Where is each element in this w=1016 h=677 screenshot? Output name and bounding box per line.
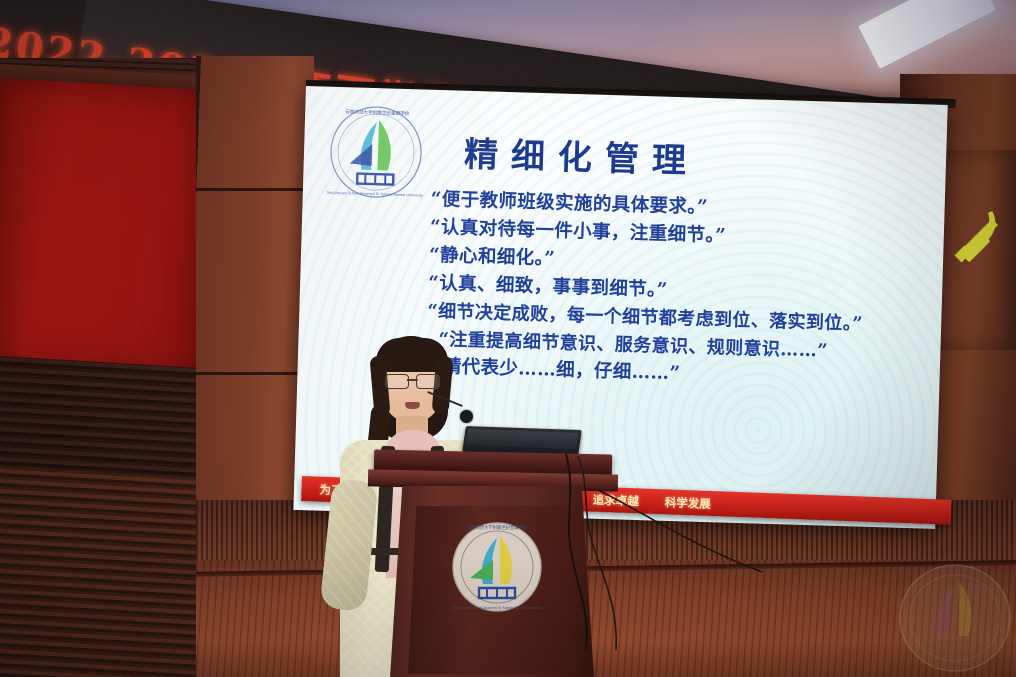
pillar-seam (196, 188, 314, 191)
mic-boom-arm (427, 391, 463, 407)
photo-scene: 2022-2023学年下学期开学大会暨学习贯彻党的二十大精神干部培训班学 (0, 0, 1016, 677)
glasses-lens-right (416, 374, 440, 389)
red-drape-panel (0, 78, 206, 383)
svg-text:Shiji Jinyuan School Attached: Shiji Jinyuan School Attached To Yunnan … (904, 665, 1006, 669)
glasses-lens-left (385, 374, 409, 389)
svg-text:云南师范大学附属世纪金源学校: 云南师范大学附属世纪金源学校 (920, 569, 990, 576)
svg-text:Shiji Jinyuan School Attached: Shiji Jinyuan School Attached To Yunnan … (452, 606, 542, 610)
slide-title: 精细化管理 (463, 127, 699, 183)
hammer-and-sickle-icon (952, 205, 1010, 267)
glasses-icon (385, 374, 440, 387)
podium-school-emblem-icon: 云南师范大学附属世纪金源学校 Shiji Jinyuan School Atta… (450, 520, 544, 614)
pillar-seam (196, 372, 314, 375)
cable (596, 486, 766, 596)
school-emblem-watermark-icon: 云南师范大学附属世纪金源学校 Shiji Jinyuan School Atta… (896, 562, 1014, 674)
slatted-wall-lower (0, 464, 208, 677)
mouth (405, 402, 420, 409)
svg-text:云南师范大学附属世纪金源学校: 云南师范大学附属世纪金源学校 (345, 108, 410, 117)
school-sail-emblem-icon: 云南师范大学附属世纪金源学校 Shiji Jinyuan School Atta… (327, 103, 426, 202)
svg-text:云南师范大学附属世纪金源学校: 云南师范大学附属世纪金源学校 (467, 524, 528, 531)
headset-microphone-icon (426, 394, 468, 430)
mic-capsule (460, 410, 473, 423)
svg-text:Shiji Jinyuan School Attached: Shiji Jinyuan School Attached To Yunnan … (327, 191, 423, 198)
